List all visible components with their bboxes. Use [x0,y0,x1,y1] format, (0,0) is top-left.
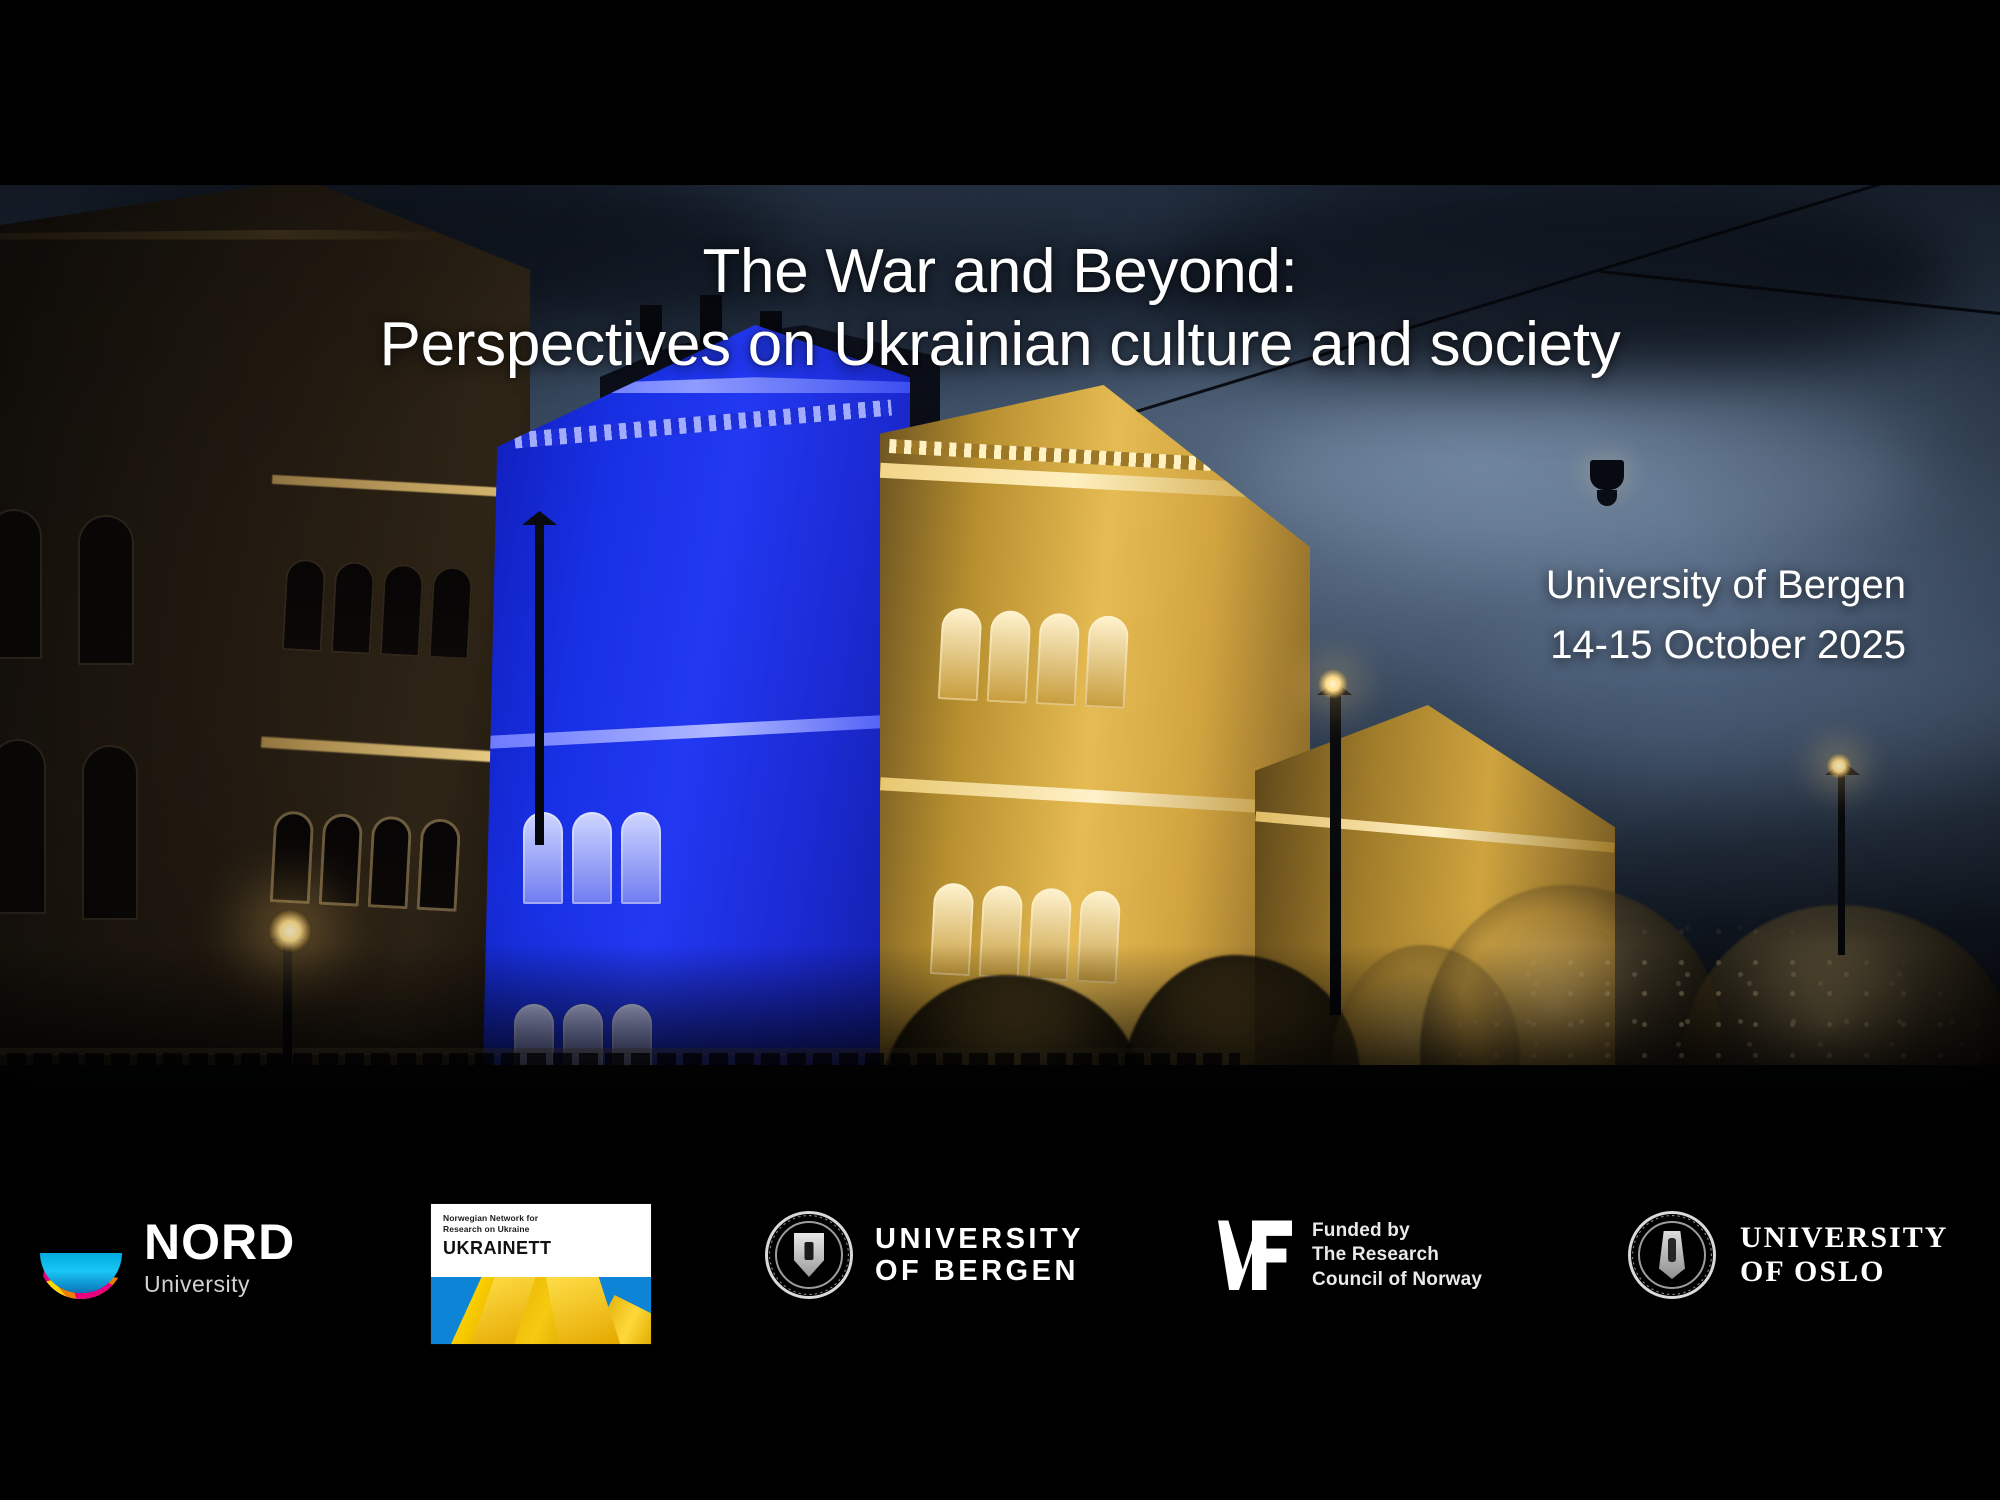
window [0,509,42,659]
conference-title-slide: The War and Beyond: Perspectives on Ukra… [0,0,2000,1500]
arched-window-row [270,810,462,912]
sponsor-logo-bar: NORD University Norwegian Network for Re… [0,1185,2000,1500]
research-council-mark-icon [1218,1220,1294,1290]
window [0,739,46,914]
title-line-1: The War and Beyond: [0,235,2000,308]
title-block: The War and Beyond: Perspectives on Ukra… [0,235,2000,381]
oslo-line-2: OF OSLO [1740,1255,1948,1289]
logo-ukrainett[interactable]: Norwegian Network for Research on Ukrain… [430,1203,652,1345]
oslo-wordmark: UNIVERSITY OF OSLO [1740,1221,1948,1289]
window [82,745,138,920]
letterbox-top [0,0,2000,185]
cornice [261,736,530,764]
terrace-foreground [0,1065,2000,1185]
arched-window-row [938,607,1130,709]
ukrainett-desc-line-1: Norwegian Network for [443,1213,641,1224]
logo-research-council-of-norway[interactable]: Funded by The Research Council of Norway [1218,1219,1482,1292]
logo-university-of-bergen[interactable]: UNIVERSITY OF BERGEN [765,1211,1084,1299]
nord-wordmark: NORD University [144,1217,295,1296]
research-council-wordmark: Funded by The Research Council of Norway [1312,1219,1482,1292]
lamp-post [283,931,292,1081]
oslo-line-1: UNIVERSITY [1740,1221,1948,1255]
rcn-line-2: The Research [1312,1243,1482,1267]
event-dates: 14-15 October 2025 [1546,615,1906,675]
logo-row: NORD University Norwegian Network for Re… [0,1205,2000,1335]
nord-subtitle: University [144,1273,295,1296]
lamp-post [1330,685,1341,1015]
lamp-glow [1318,669,1348,699]
lamp-post [535,515,544,845]
logo-nord-university[interactable]: NORD University [38,1213,295,1299]
ukrainett-card: Norwegian Network for Research on Ukrain… [430,1203,652,1345]
rcn-line-1: Funded by [1312,1219,1482,1243]
ukrainett-wordmark: UKRAINETT [443,1238,641,1259]
lamp-glow [268,909,312,953]
ukrainett-caption: Norwegian Network for Research on Ukrain… [431,1204,651,1277]
cornice [1255,812,1615,853]
oslo-seal-icon [1628,1211,1716,1299]
ukrainett-flag-art [431,1274,651,1344]
window [78,515,134,665]
nord-name: NORD [144,1217,295,1267]
event-details: University of Bergen 14-15 October 2025 [1546,555,1906,675]
rcn-line-3: Council of Norway [1312,1268,1482,1292]
arched-window-row [281,558,473,660]
bergen-wordmark: UNIVERSITY OF BERGEN [875,1223,1084,1288]
suspended-street-lamp [1590,460,1624,490]
cornice [272,475,530,498]
nord-emblem-icon [38,1213,124,1299]
title-line-2: Perspectives on Ukrainian culture and so… [0,308,2000,381]
string-course [480,714,910,749]
event-venue: University of Bergen [1546,555,1906,615]
arched-window-row [929,882,1121,984]
bergen-line-1: UNIVERSITY [875,1223,1084,1255]
string-course [880,777,1310,815]
lamp-glow [1826,753,1852,779]
ukrainett-desc-line-2: Research on Ukraine [443,1224,641,1235]
bergen-seal-icon [765,1211,853,1299]
logo-university-of-oslo[interactable]: UNIVERSITY OF OSLO [1628,1211,1948,1299]
lamp-post [1838,765,1845,955]
cloud [1240,385,1920,565]
bergen-line-2: OF BERGEN [875,1255,1084,1287]
